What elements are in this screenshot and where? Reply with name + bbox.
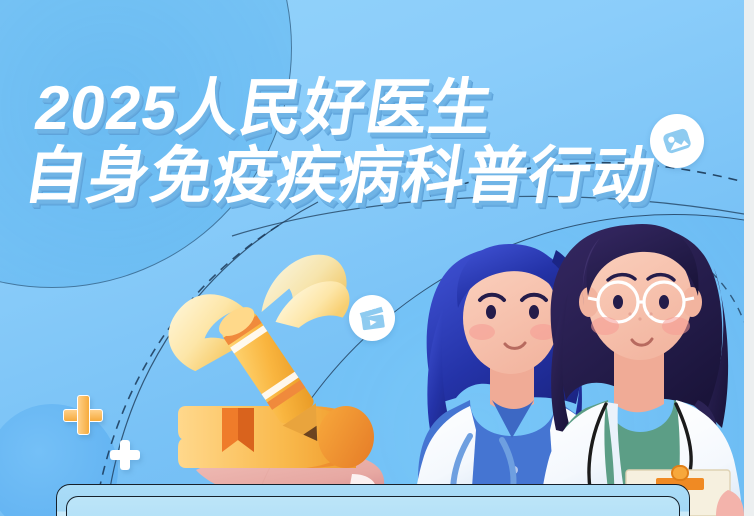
plus-white-icon <box>110 440 140 470</box>
video-clapperboard-icon <box>357 303 387 333</box>
image-icon <box>660 124 694 158</box>
title-line-2: 自身免疫疾病科普行动 <box>20 146 660 208</box>
plus-orange-icon <box>63 395 103 435</box>
poster-root: 2025人民好医生 自身免疫疾病科普行动 2025人民好医生 自身免疫疾病科普行… <box>0 0 754 516</box>
title-line-1: 2025人民好医生 <box>30 78 670 140</box>
poster-background: 2025人民好医生 自身免疫疾病科普行动 <box>0 0 744 516</box>
poster-title: 2025人民好医生 自身免疫疾病科普行动 <box>20 78 671 208</box>
right-margin-strip <box>744 0 754 516</box>
desk-counter-front <box>66 496 680 516</box>
video-badge[interactable] <box>349 295 395 341</box>
doctor-with-glasses-illustration <box>540 224 744 516</box>
